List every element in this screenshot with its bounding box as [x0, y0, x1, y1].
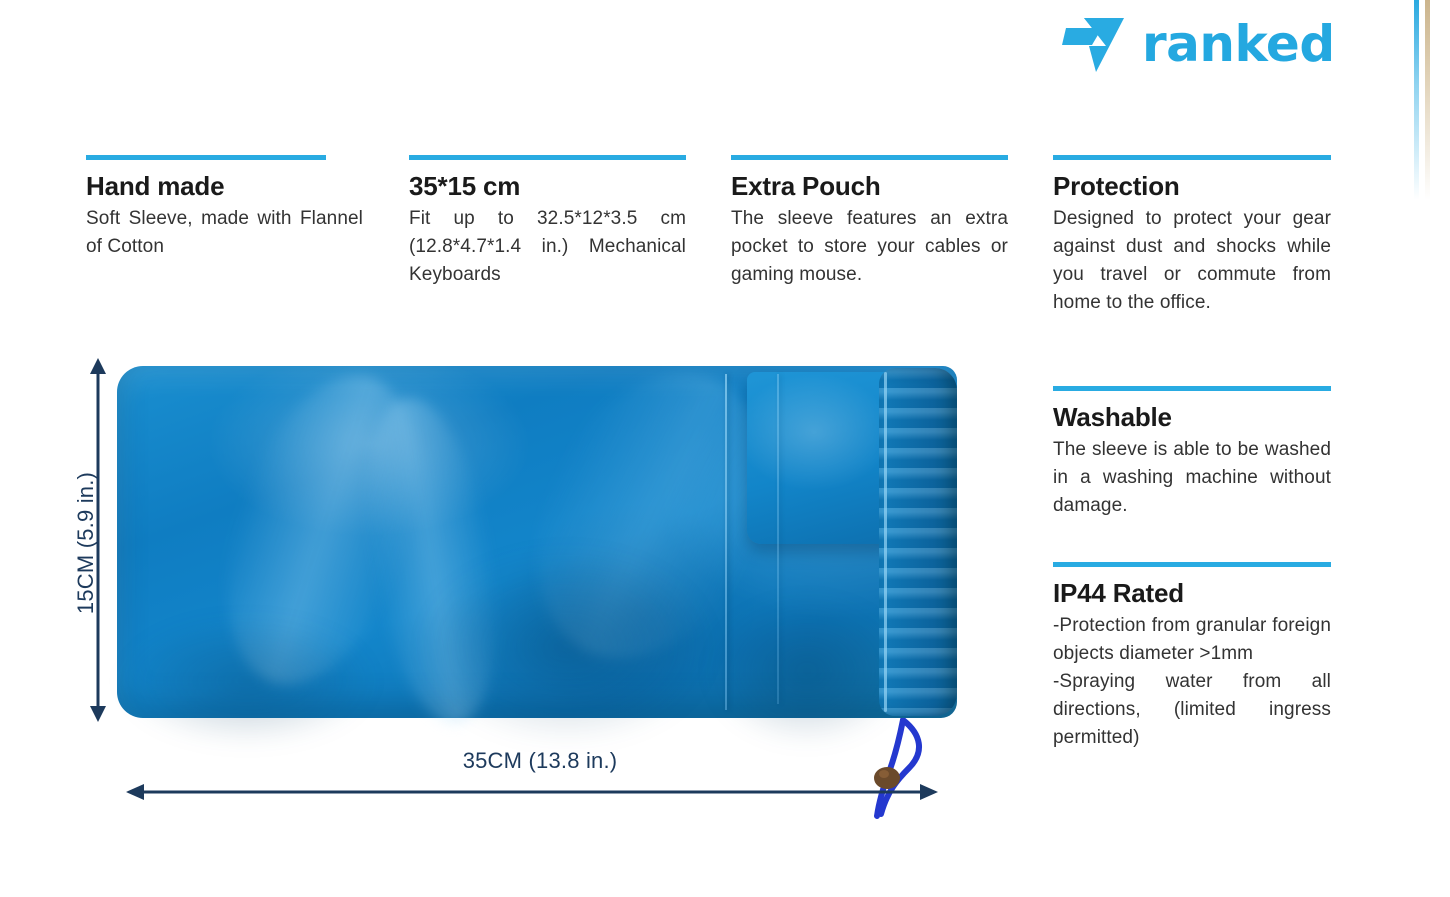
- brand-name: ranked: [1142, 19, 1335, 69]
- stripe-tan: [1425, 0, 1430, 200]
- feature-title: Hand made: [86, 172, 363, 202]
- feature-body: The sleeve features an extra pocket to s…: [731, 205, 1008, 289]
- accent-rule: [1053, 386, 1331, 391]
- feature-title: 35*15 cm: [409, 172, 686, 202]
- gathered-drawstring-edge: [879, 368, 957, 716]
- width-dimension-label: 35CM (13.8 in.): [360, 748, 720, 774]
- stitch-seam: [725, 374, 727, 710]
- sidebar-block-washable: Washable The sleeve is able to be washed…: [1053, 386, 1331, 520]
- product-figure: 15CM (5.9 in.) 35CM (13.8 in.): [60, 350, 960, 820]
- sidebar-title: Protection: [1053, 172, 1331, 202]
- feature-hand-made: Hand made Soft Sleeve, made with Flannel…: [86, 155, 363, 261]
- feature-body: Fit up to 32.5*12*3.5 cm (12.8*4.7*1.4 i…: [409, 205, 686, 289]
- accent-rule: [1053, 562, 1331, 567]
- accent-rule: [1053, 155, 1331, 160]
- accent-rule: [731, 155, 1008, 160]
- infographic-page: ranked Hand made Soft Sleeve, made with …: [0, 0, 1450, 897]
- sidebar-block-ip44: IP44 Rated -Protection from granular for…: [1053, 562, 1331, 752]
- feature-body: Soft Sleeve, made with Flannel of Cotton: [86, 205, 363, 261]
- width-dimension-arrow: [126, 780, 938, 804]
- sidebar-title: Washable: [1053, 403, 1331, 433]
- sidebar-block-protection: Protection Designed to protect your gear…: [1053, 155, 1331, 317]
- corner-stripe-decoration: [1414, 0, 1440, 200]
- feature-size: 35*15 cm Fit up to 32.5*12*3.5 cm (12.8*…: [409, 155, 686, 289]
- sidebar-title: IP44 Rated: [1053, 579, 1331, 609]
- sidebar-body-line-1: -Protection from granular foreign object…: [1053, 612, 1331, 668]
- stripe-blue: [1414, 0, 1419, 200]
- accent-rule: [409, 155, 686, 160]
- stitch-seam: [777, 374, 779, 704]
- product-image-velvet-sleeve: [117, 366, 957, 718]
- stitch-seam: [884, 372, 887, 712]
- arrow-chevron-mark-icon: [1062, 14, 1128, 74]
- sidebar-body: Designed to protect your gear against du…: [1053, 205, 1331, 317]
- sidebar-body: The sleeve is able to be washed in a was…: [1053, 436, 1331, 520]
- sidebar-body-line-2: -Spraying water from all directions, (li…: [1053, 668, 1331, 752]
- drawstring-cord-icon: [859, 718, 949, 828]
- accent-rule: [86, 155, 326, 160]
- brand-logo: ranked: [1062, 14, 1335, 74]
- feature-extra-pouch: Extra Pouch The sleeve features an extra…: [731, 155, 1008, 289]
- height-dimension-label: 15CM (5.9 in.): [73, 453, 99, 633]
- feature-title: Extra Pouch: [731, 172, 1008, 202]
